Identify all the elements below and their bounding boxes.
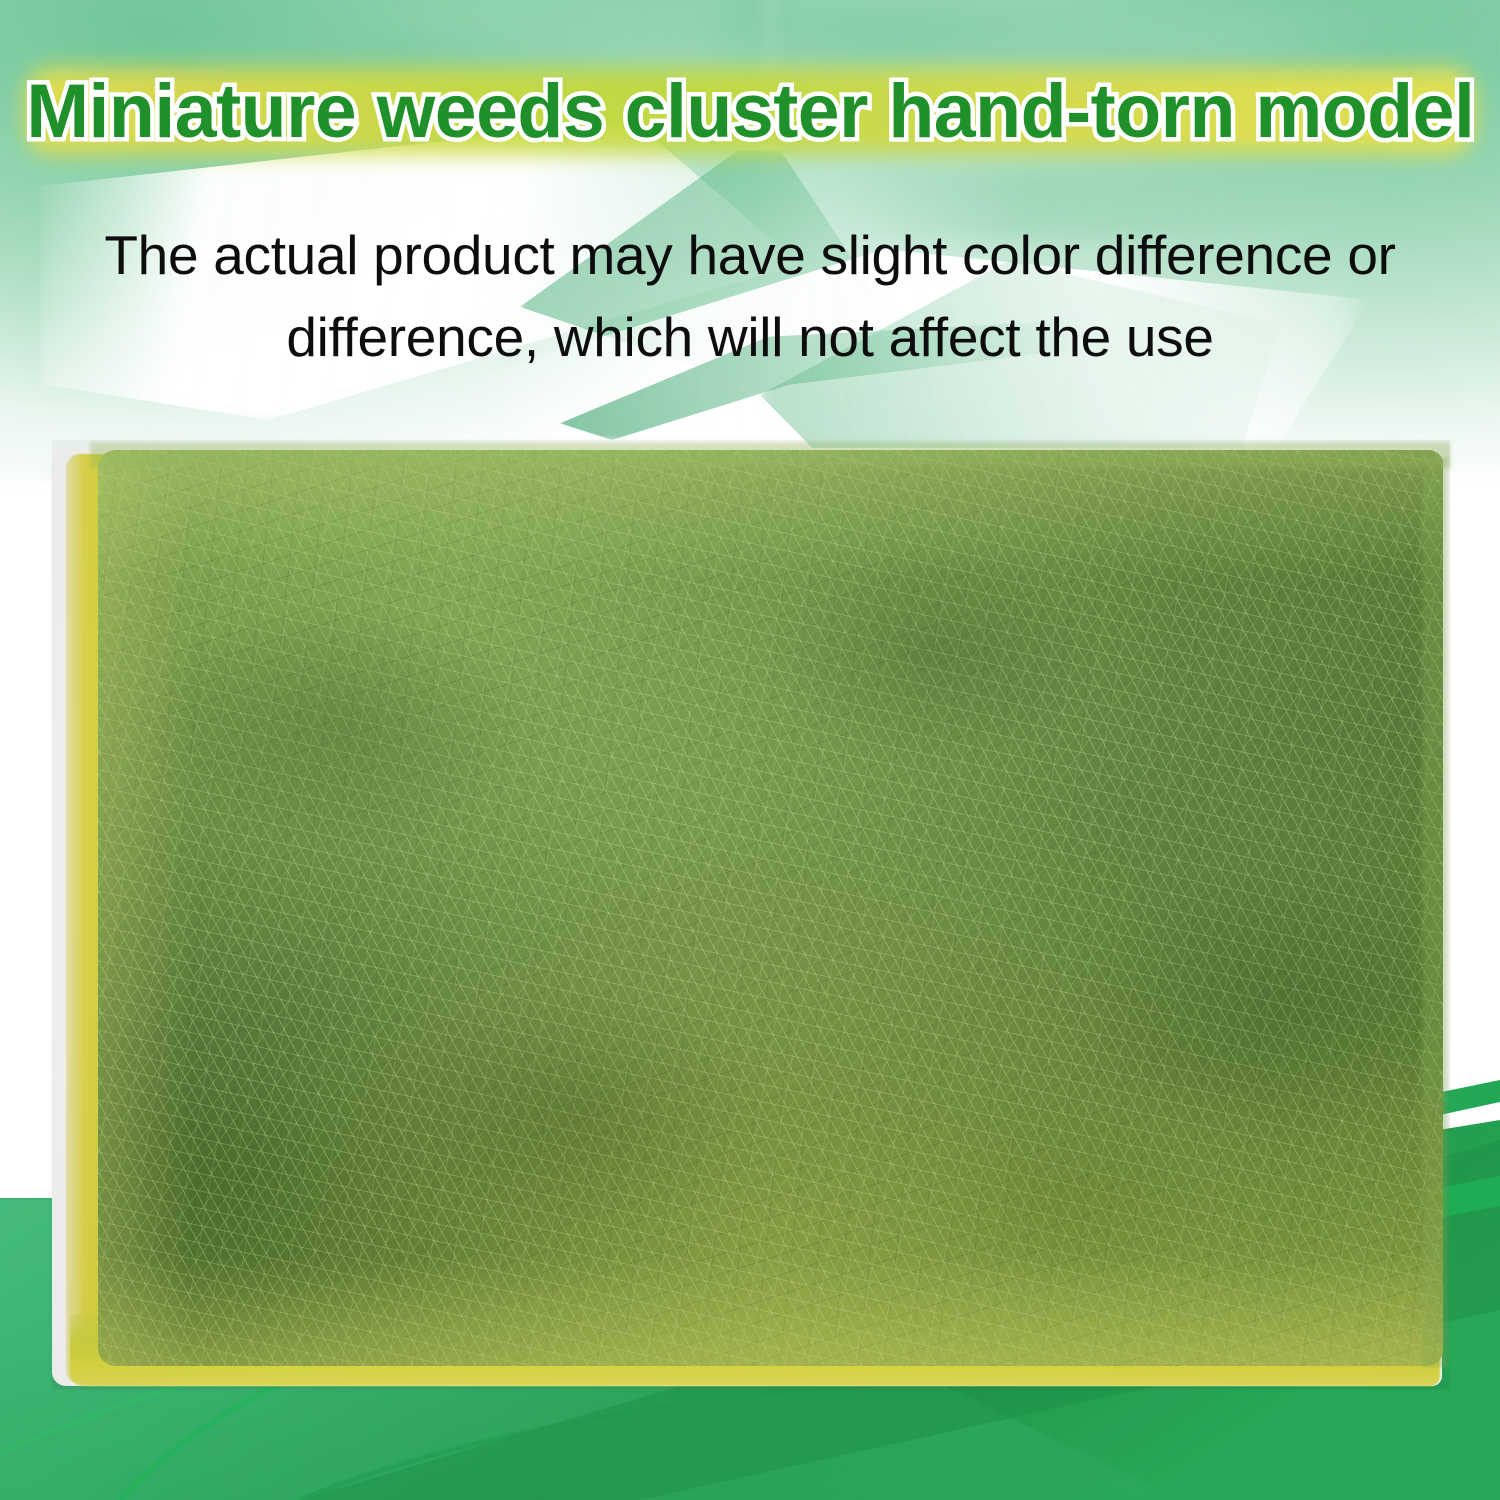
grass-edge-bloom bbox=[98, 450, 1443, 1366]
product-banner: Miniature weeds cluster hand-torn model … bbox=[0, 0, 1500, 1500]
disclaimer-line-2: difference, which will not affect the us… bbox=[0, 296, 1500, 378]
disclaimer-text: The actual product may have slight color… bbox=[0, 214, 1500, 378]
product-photo bbox=[52, 440, 1450, 1390]
disclaimer-line-1: The actual product may have slight color… bbox=[0, 214, 1500, 296]
grass-surface bbox=[98, 450, 1443, 1366]
page-title: Miniature weeds cluster hand-torn model bbox=[26, 74, 1474, 150]
background-streak-2 bbox=[640, 10, 1500, 64]
banner-title-container: Miniature weeds cluster hand-torn model bbox=[0, 62, 1500, 162]
